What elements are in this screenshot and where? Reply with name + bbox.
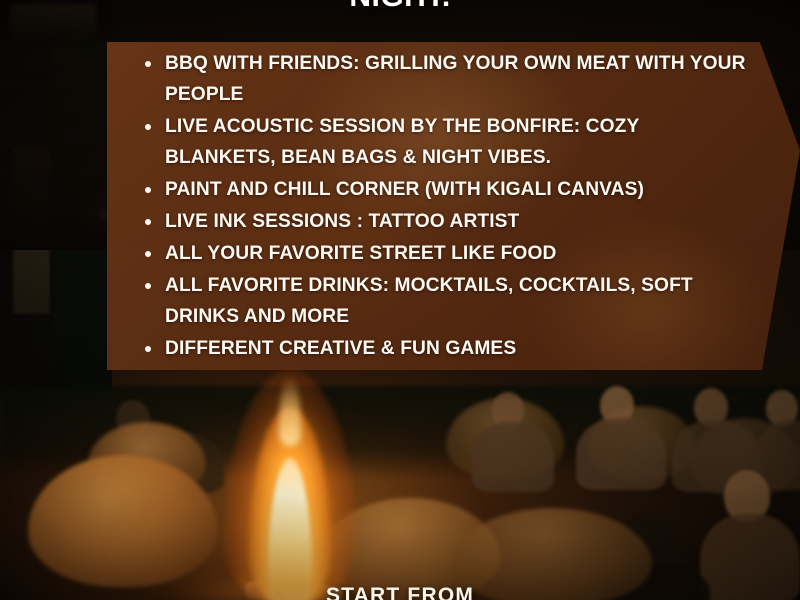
list-item: LIVE ACOUSTIC SESSION BY THE BONFIRE: CO…: [135, 111, 754, 173]
list-item: ALL FAVORITE DRINKS: MOCKTAILS, COCKTAIL…: [135, 270, 754, 332]
seated-person: [576, 386, 668, 486]
list-item: DIFFERENT CREATIVE & FUN GAMES: [135, 333, 754, 364]
seated-person-foreground: [700, 470, 800, 600]
feature-list: BBQ WITH FRIENDS: GRILLING YOUR OWN MEAT…: [135, 48, 754, 365]
poster-title: NIGHT.: [0, 0, 800, 14]
start-from-label: START FROM: [0, 584, 800, 600]
event-poster: NIGHT. BBQ WITH FRIENDS: GRILLING YOUR O…: [0, 0, 800, 600]
bonfire-flame: [210, 356, 370, 600]
list-item: BBQ WITH FRIENDS: GRILLING YOUR OWN MEAT…: [135, 48, 754, 110]
features-panel: BBQ WITH FRIENDS: GRILLING YOUR OWN MEAT…: [107, 42, 800, 370]
list-item: PAINT AND CHILL CORNER (WITH KIGALI CANV…: [135, 174, 754, 205]
list-item: LIVE INK SESSIONS : TATTOO ARTIST: [135, 206, 754, 237]
list-item: ALL YOUR FAVORITE STREET LIKE FOOD: [135, 238, 754, 269]
seated-person: [470, 392, 556, 488]
